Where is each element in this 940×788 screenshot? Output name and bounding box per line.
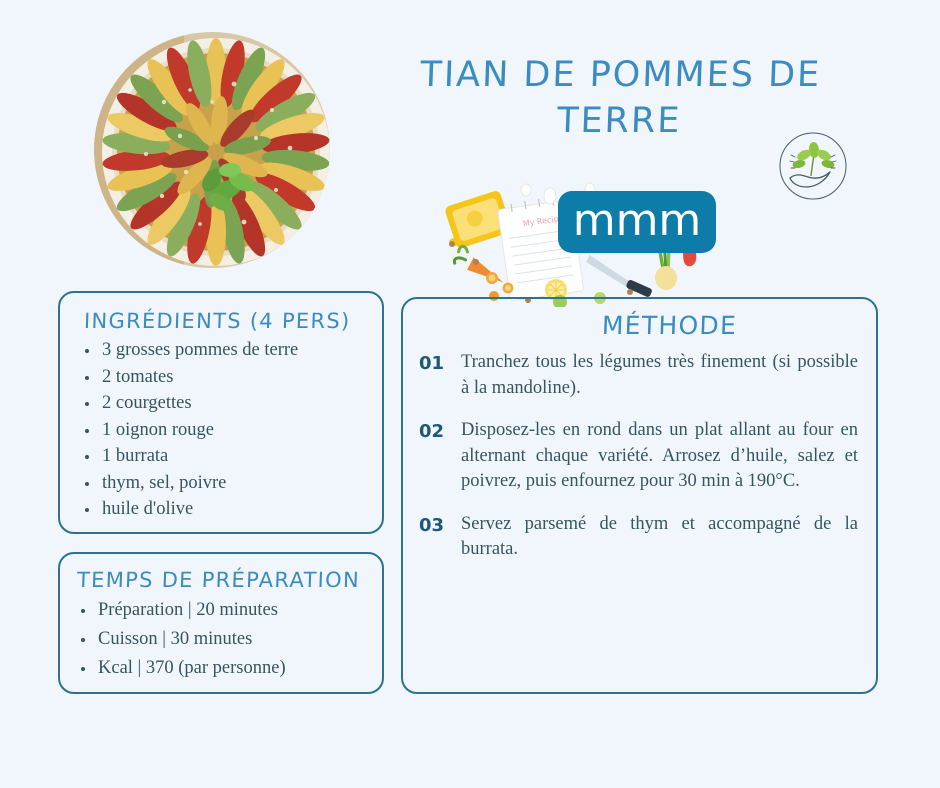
list-item: Kcal | 370 (par personne)	[96, 654, 382, 683]
ingredients-heading: INGRÉDIENTS (4 PERS)	[84, 309, 383, 333]
list-item: huile d'olive	[100, 496, 382, 523]
recipe-photo-illustration	[94, 32, 330, 268]
ingredients-panel: INGRÉDIENTS (4 PERS) 3 grosses pommes de…	[58, 291, 384, 534]
list-item: 3 grosses pommes de terre	[100, 337, 382, 364]
list-item: 2 tomates	[100, 364, 382, 391]
preparation-time-heading: TEMPS DE PRÉPARATION	[77, 568, 383, 592]
method-panel: MÉTHODE 01 Tranchez tous les légumes trè…	[401, 297, 878, 694]
list-item: 2 courgettes	[100, 390, 382, 417]
step-text: Servez parsemé de thym et accompagné de …	[461, 512, 858, 563]
list-item: 1 oignon rouge	[100, 417, 382, 444]
preparation-time-panel: TEMPS DE PRÉPARATION Préparation | 20 mi…	[58, 552, 384, 694]
method-step: 02 Disposez-les en rond dans un plat all…	[419, 418, 858, 495]
ingredients-list: 3 grosses pommes de terre 2 tomates 2 co…	[60, 337, 382, 523]
step-number: 02	[419, 418, 461, 445]
mmm-badge-label: mmm	[573, 199, 702, 243]
list-item: Préparation | 20 minutes	[96, 596, 382, 625]
list-item: 1 burrata	[100, 443, 382, 470]
carrot-icon	[452, 245, 509, 287]
step-number: 03	[419, 512, 461, 539]
step-number: 01	[419, 350, 461, 377]
method-step: 01 Tranchez tous les légumes très fineme…	[419, 350, 858, 401]
recipe-photo	[94, 32, 330, 268]
hand-holding-sprout-logo	[778, 131, 848, 201]
list-item: Cuisson | 30 minutes	[96, 625, 382, 654]
step-text: Disposez-les en rond dans un plat allant…	[461, 418, 858, 495]
method-steps-list: 01 Tranchez tous les légumes très fineme…	[403, 346, 876, 563]
list-item: thym, sel, poivre	[100, 470, 382, 497]
recipe-card: TIAN DE POMMES DE TERRE	[0, 0, 940, 788]
method-heading: MÉTHODE	[462, 311, 876, 340]
cutting-board-icon	[438, 190, 512, 252]
step-text: Tranchez tous les légumes très finement …	[461, 350, 858, 401]
mmm-brand-badge[interactable]: mmm	[558, 191, 716, 253]
preparation-time-list: Préparation | 20 minutes Cuisson | 30 mi…	[60, 596, 382, 683]
knife-icon	[583, 255, 655, 298]
method-step: 03 Servez parsemé de thym et accompagné …	[419, 512, 858, 563]
